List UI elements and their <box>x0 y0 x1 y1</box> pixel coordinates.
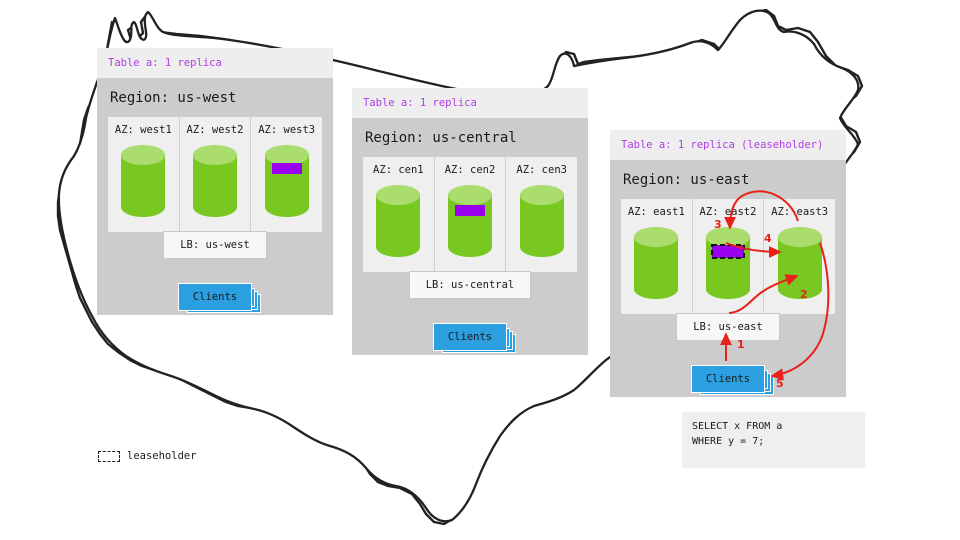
az-label-east2: AZ: east2 <box>700 206 757 218</box>
az-row-us-central: AZ: cen1 AZ: cen2 <box>363 157 577 272</box>
az-col-west3[interactable]: AZ: west3 <box>251 117 322 232</box>
load-balancer-us-central[interactable]: LB: us-central <box>409 271 532 299</box>
az-col-west1[interactable]: AZ: west1 <box>108 117 180 232</box>
database-cylinder-icon <box>446 183 494 259</box>
panel-titlebar-us-east: Table a: 1 replica (leaseholder) <box>610 130 846 160</box>
region-panel-us-east: Table a: 1 replica (leaseholder) Region:… <box>610 130 846 397</box>
database-cylinder-icon <box>374 183 422 259</box>
panel-body-us-west: Region: us-west AZ: west1 AZ: west2 <box>97 78 333 315</box>
node-cylinder-west1[interactable] <box>119 143 167 223</box>
legend: leaseholder <box>98 450 197 462</box>
region-panel-us-west: Table a: 1 replica Region: us-west AZ: w… <box>97 48 333 315</box>
database-cylinder-icon <box>632 225 680 301</box>
lb-row-us-east: LB: us-east <box>621 313 835 341</box>
replica-marker-leaseholder <box>712 245 744 258</box>
database-cylinder-icon <box>518 183 566 259</box>
legend-label-leaseholder: leaseholder <box>127 450 197 462</box>
lb-row-us-central: LB: us-central <box>363 271 577 299</box>
clients-row-us-east: Clients <box>621 367 835 386</box>
lb-row-us-west: LB: us-west <box>108 231 322 259</box>
az-row-us-west: AZ: west1 AZ: west2 AZ: <box>108 117 322 232</box>
sql-query-box: SELECT x FROM a WHERE y = 7; <box>682 412 865 468</box>
az-label-cen2: AZ: cen2 <box>445 164 496 176</box>
clients-button-us-west[interactable]: Clients <box>178 285 252 304</box>
clients-button-label: Clients <box>433 323 507 351</box>
node-cylinder-west3[interactable] <box>263 143 311 223</box>
node-cylinder-east3[interactable] <box>776 225 824 305</box>
load-balancer-us-west[interactable]: LB: us-west <box>163 231 267 259</box>
az-label-west1: AZ: west1 <box>115 124 172 136</box>
az-col-cen3[interactable]: AZ: cen3 <box>506 157 577 272</box>
database-cylinder-icon <box>191 143 239 219</box>
database-cylinder-icon <box>263 143 311 219</box>
node-cylinder-west2[interactable] <box>191 143 239 223</box>
az-label-east1: AZ: east1 <box>628 206 685 218</box>
replica-marker <box>455 205 485 216</box>
database-cylinder-icon <box>704 225 752 301</box>
clients-button-us-east[interactable]: Clients <box>691 367 765 386</box>
az-label-east3: AZ: east3 <box>771 206 828 218</box>
az-label-west3: AZ: west3 <box>258 124 315 136</box>
panel-body-us-central: Region: us-central AZ: cen1 AZ: cen2 <box>352 118 588 355</box>
node-cylinder-east1[interactable] <box>632 225 680 305</box>
node-cylinder-east2[interactable] <box>704 225 752 305</box>
region-title-us-central: Region: us-central <box>363 118 577 157</box>
panel-titlebar-us-west: Table a: 1 replica <box>97 48 333 78</box>
az-label-cen1: AZ: cen1 <box>373 164 424 176</box>
az-col-west2[interactable]: AZ: west2 <box>180 117 252 232</box>
az-label-cen3: AZ: cen3 <box>516 164 567 176</box>
az-col-east3[interactable]: AZ: east3 <box>764 199 835 314</box>
database-cylinder-icon <box>119 143 167 219</box>
az-col-cen1[interactable]: AZ: cen1 <box>363 157 435 272</box>
clients-button-us-central[interactable]: Clients <box>433 325 507 344</box>
clients-button-label: Clients <box>691 365 765 393</box>
node-cylinder-cen1[interactable] <box>374 183 422 263</box>
replica-marker <box>272 163 302 174</box>
az-row-us-east: AZ: east1 AZ: east2 <box>621 199 835 314</box>
clients-button-label: Clients <box>178 283 252 311</box>
az-col-east2[interactable]: AZ: east2 <box>693 199 765 314</box>
clients-row-us-west: Clients <box>108 285 322 304</box>
panel-body-us-east: Region: us-east AZ: east1 AZ: east2 <box>610 160 846 397</box>
load-balancer-us-east[interactable]: LB: us-east <box>676 313 780 341</box>
region-panel-us-central: Table a: 1 replica Region: us-central AZ… <box>352 88 588 355</box>
region-title-us-west: Region: us-west <box>108 78 322 117</box>
az-label-west2: AZ: west2 <box>187 124 244 136</box>
az-col-east1[interactable]: AZ: east1 <box>621 199 693 314</box>
panel-titlebar-us-central: Table a: 1 replica <box>352 88 588 118</box>
clients-row-us-central: Clients <box>363 325 577 344</box>
node-cylinder-cen3[interactable] <box>518 183 566 263</box>
leaseholder-dashed-swatch <box>98 451 120 462</box>
database-cylinder-icon <box>776 225 824 301</box>
region-title-us-east: Region: us-east <box>621 160 835 199</box>
node-cylinder-cen2[interactable] <box>446 183 494 263</box>
az-col-cen2[interactable]: AZ: cen2 <box>435 157 507 272</box>
